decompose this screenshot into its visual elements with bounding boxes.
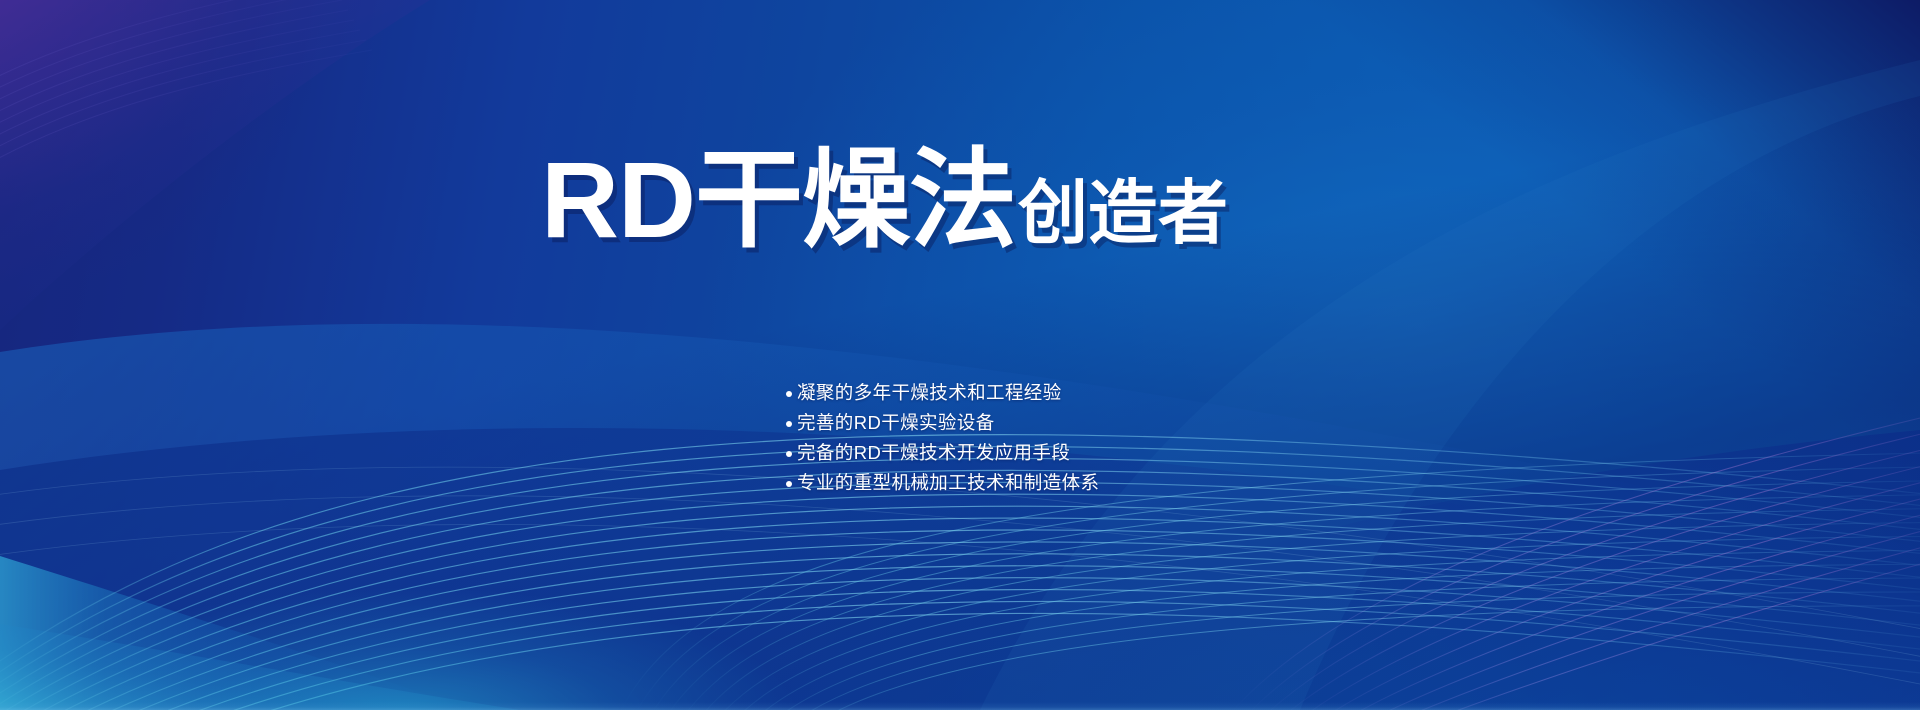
- list-item-label: 凝聚的多年干燥技术和工程经验: [797, 381, 1062, 404]
- list-item-label: 完善的RD干燥实验设备: [797, 411, 995, 434]
- list-item-label: 完备的RD干燥技术开发应用手段: [797, 441, 1070, 464]
- headline-main-text: RD干燥法: [541, 146, 1016, 254]
- bullet-dot-icon: [786, 391, 792, 397]
- list-item: 凝聚的多年干燥技术和工程经验: [786, 381, 1099, 404]
- list-item-label: 专业的重型机械加工技术和制造体系: [797, 471, 1099, 494]
- list-item: 专业的重型机械加工技术和制造体系: [786, 471, 1099, 494]
- bullet-dot-icon: [786, 481, 792, 487]
- headline-sub-text: 创造者: [1018, 178, 1228, 248]
- bullet-dot-icon: [786, 421, 792, 427]
- banner-root: RD干燥法 创造者 凝聚的多年干燥技术和工程经验 完善的RD干燥实验设备 完备的…: [0, 0, 1920, 710]
- bullet-dot-icon: [786, 451, 792, 457]
- list-item: 完备的RD干燥技术开发应用手段: [786, 441, 1099, 464]
- list-item: 完善的RD干燥实验设备: [786, 411, 1099, 434]
- feature-bullet-list: 凝聚的多年干燥技术和工程经验 完善的RD干燥实验设备 完备的RD干燥技术开发应用…: [786, 381, 1099, 494]
- banner-headline: RD干燥法 创造者: [541, 146, 1228, 254]
- banner-content: RD干燥法 创造者 凝聚的多年干燥技术和工程经验 完善的RD干燥实验设备 完备的…: [0, 0, 1920, 710]
